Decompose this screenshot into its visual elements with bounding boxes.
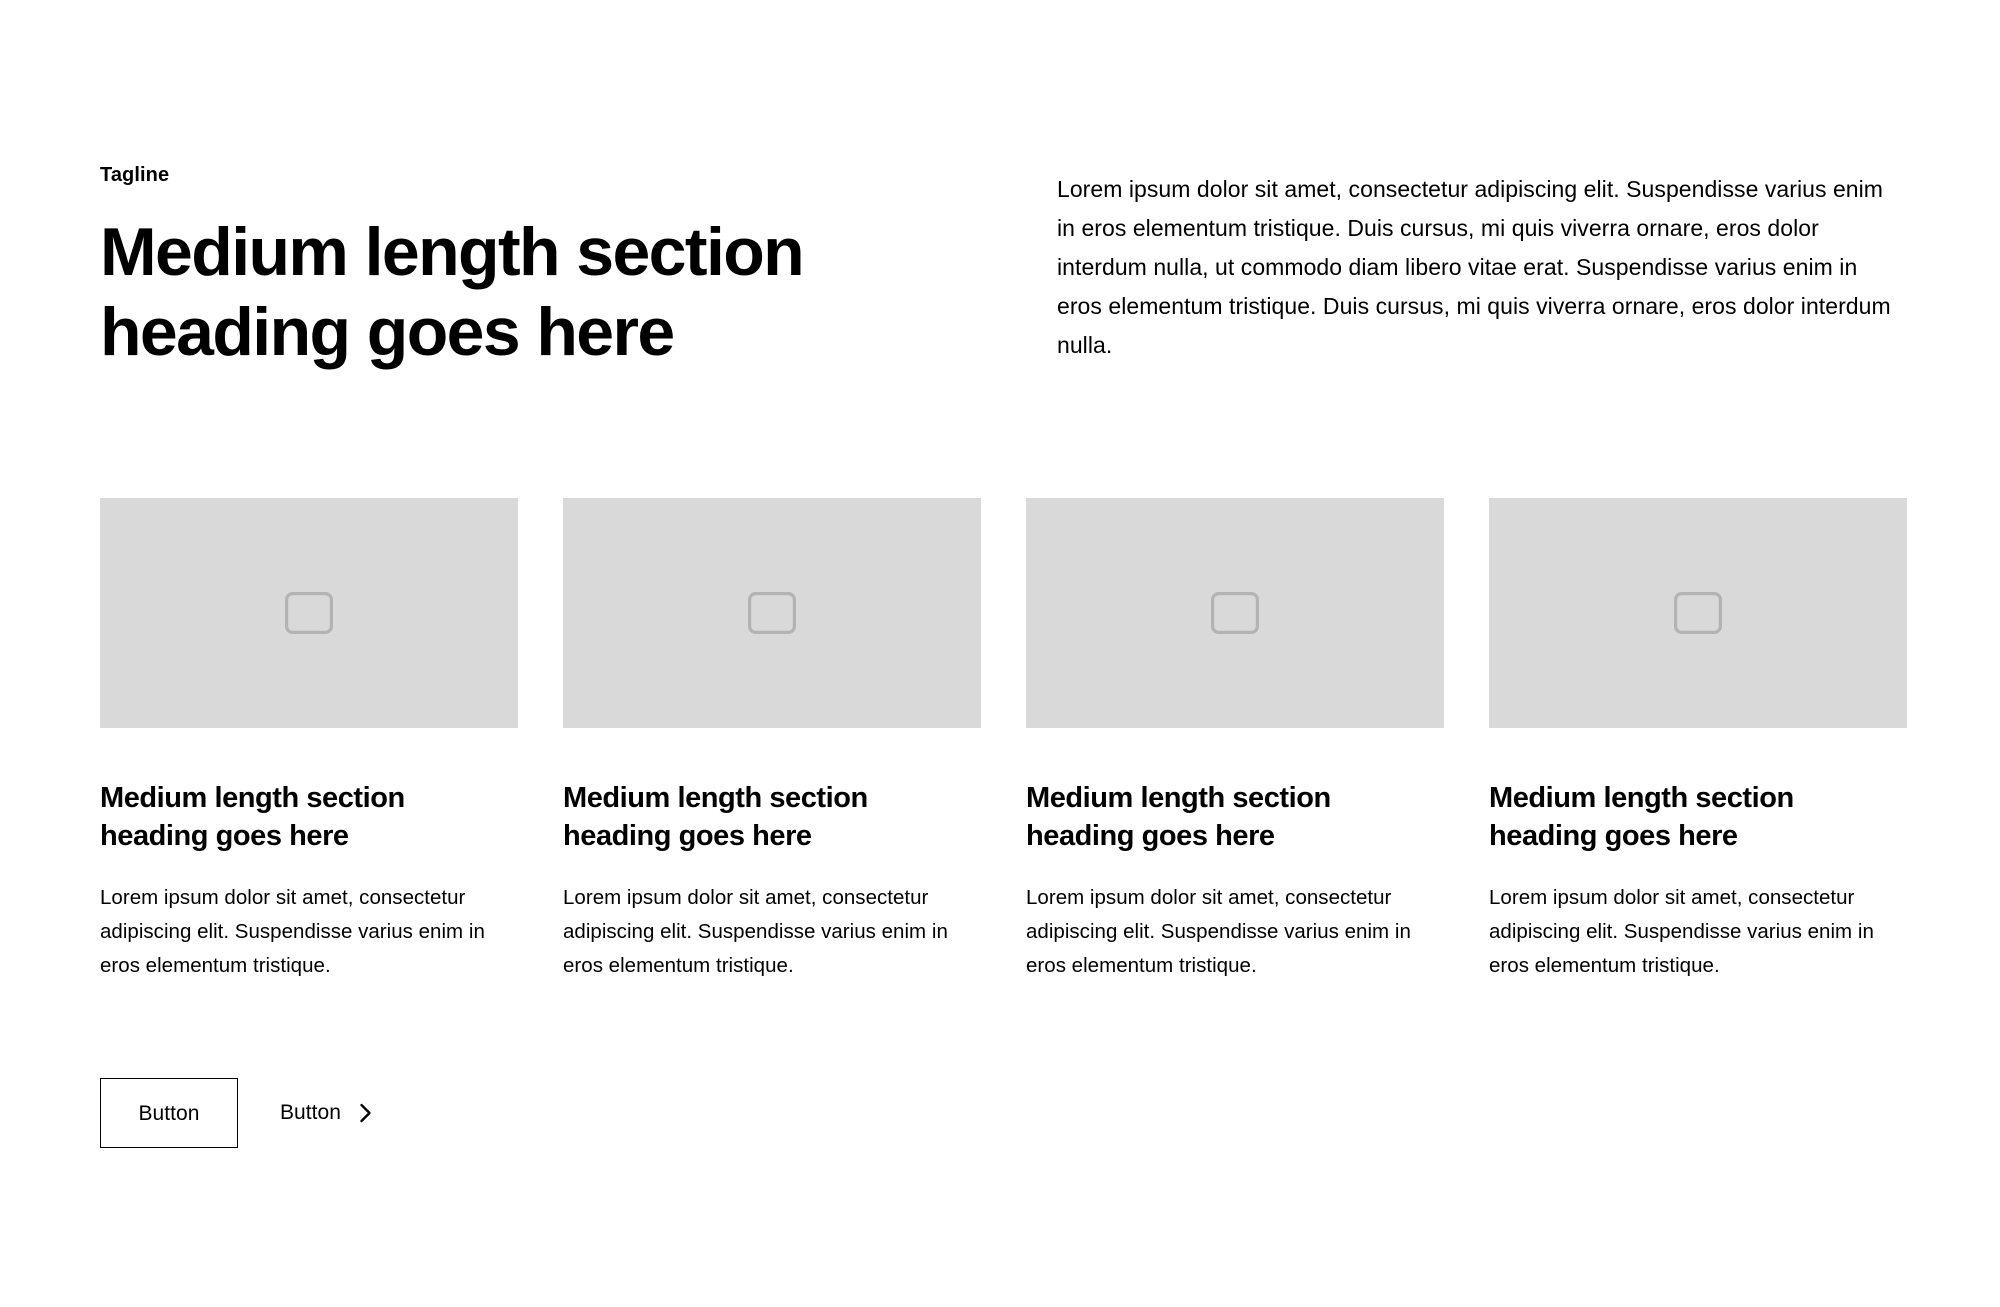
page-title: Medium length section heading goes here [100,212,840,372]
card-body: Lorem ipsum dolor sit amet, consectetur … [1026,881,1444,983]
card-title: Medium length section heading goes here [1489,780,1907,855]
card-image-placeholder [1489,498,1907,728]
header-paragraph: Lorem ipsum dolor sit amet, consectetur … [1057,170,1902,365]
image-placeholder-icon [285,592,333,634]
card-item: Medium length section heading goes here … [1489,498,1907,983]
card-title: Medium length section heading goes here [563,780,981,855]
card-title: Medium length section heading goes here [100,780,518,855]
action-buttons: Button Button [100,1078,382,1148]
chevron-right-icon [359,1103,372,1123]
card-image-placeholder [563,498,981,728]
card-item: Medium length section heading goes here … [563,498,981,983]
section-header: Tagline Medium length section heading go… [100,160,1902,372]
card-image-placeholder [1026,498,1444,728]
tagline: Tagline [100,160,860,190]
card-grid: Medium length section heading goes here … [100,498,1902,983]
primary-button[interactable]: Button [100,1078,238,1148]
card-body: Lorem ipsum dolor sit amet, consectetur … [563,881,981,983]
image-placeholder-icon [1674,592,1722,634]
card-body: Lorem ipsum dolor sit amet, consectetur … [100,881,518,983]
content-container: Tagline Medium length section heading go… [100,0,1902,1307]
image-placeholder-icon [1211,592,1259,634]
header-left-column: Tagline Medium length section heading go… [100,160,860,372]
card-body: Lorem ipsum dolor sit amet, consectetur … [1489,881,1907,983]
secondary-button[interactable]: Button [270,1078,382,1148]
card-title: Medium length section heading goes here [1026,780,1444,855]
card-image-placeholder [100,498,518,728]
header-right-column: Lorem ipsum dolor sit amet, consectetur … [1057,160,1902,365]
secondary-button-label: Button [280,1101,341,1125]
card-item: Medium length section heading goes here … [100,498,518,983]
card-item: Medium length section heading goes here … [1026,498,1444,983]
section-page: Tagline Medium length section heading go… [0,0,2000,1307]
image-placeholder-icon [748,592,796,634]
